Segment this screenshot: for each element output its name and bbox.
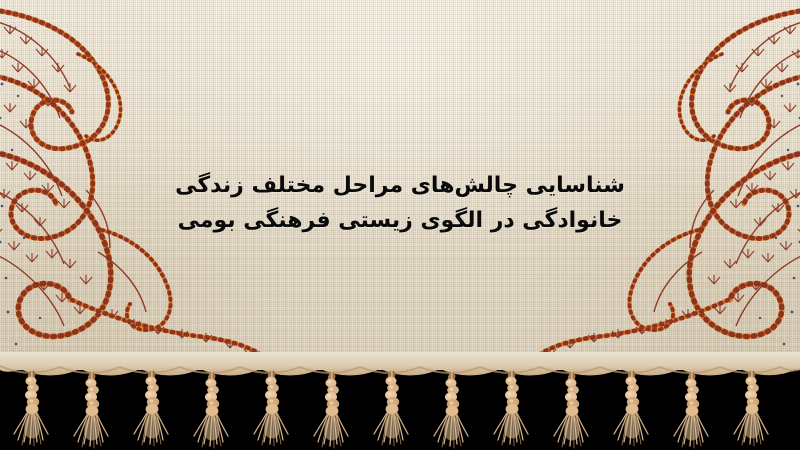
- title-line-2: خانوادگی در الگوی زیستی فرهنگی بومی: [0, 203, 800, 238]
- slide-canvas: شناسایی چالش‌های مراحل مختلف زندگی خانوا…: [0, 0, 800, 450]
- title-line-1: شناسایی چالش‌های مراحل مختلف زندگی: [0, 168, 800, 203]
- tassel-fringe: [0, 352, 800, 450]
- slide-title: شناسایی چالش‌های مراحل مختلف زندگی خانوا…: [0, 168, 800, 238]
